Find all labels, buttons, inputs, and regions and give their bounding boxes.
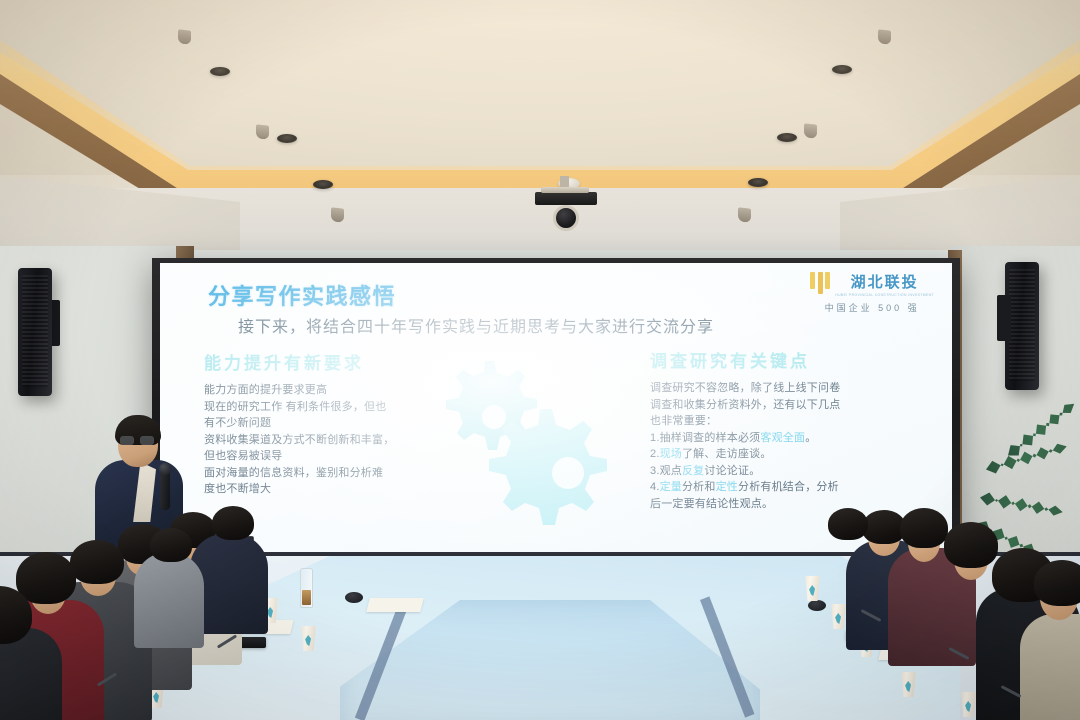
attendee-hair bbox=[70, 540, 124, 584]
slide-line: 现在的研究工作 有利条件很多，但也 bbox=[204, 399, 504, 416]
attendee-hair bbox=[828, 508, 868, 540]
notepad bbox=[366, 598, 423, 612]
meeting-room-photo: 湖北联投 HUBEI PROVINCIAL CONSTRUCTION INVES… bbox=[0, 0, 1080, 720]
logo-english: HUBEI PROVINCIAL CONSTRUCTION INVESTMENT bbox=[835, 293, 934, 297]
slide-line: 能力方面的提升要求更高 bbox=[204, 382, 504, 399]
attendee-hair bbox=[944, 522, 998, 568]
spotlight-icon bbox=[180, 18, 189, 44]
slide-line: 3.观点反复讨论论证。 bbox=[650, 463, 950, 480]
slide-line: 也非常重要： bbox=[650, 413, 950, 430]
downlight-icon bbox=[277, 134, 297, 143]
downlight-icon bbox=[210, 67, 230, 76]
column-body-right: 调查研究不容忽略，除了线上线下问卷 调查和收集分析资料外，还有以下几点 也非常重… bbox=[650, 380, 950, 512]
logo-mark-icon bbox=[810, 272, 830, 296]
slide-column-right: 调查研究有关键点 调查研究不容忽略，除了线上线下问卷 调查和收集分析资料外，还有… bbox=[650, 347, 950, 512]
spotlight-icon bbox=[333, 196, 342, 222]
downlight-icon bbox=[777, 133, 797, 142]
downlight-icon bbox=[748, 178, 768, 187]
slide-line: 资料收集渠道及方式不断创新和丰富， bbox=[204, 432, 504, 449]
wall-speaker-left bbox=[18, 268, 52, 396]
logo-tagline: 中国企业 500 强 bbox=[810, 301, 934, 314]
attendee-hair bbox=[1034, 560, 1080, 606]
camera-bar bbox=[535, 192, 597, 205]
handheld-microphone-icon bbox=[160, 470, 170, 510]
slide-line: 4.定量分析和定性分析有机结合，分析 bbox=[650, 479, 950, 496]
slide-title: 分享写作实践感悟 bbox=[208, 279, 396, 311]
slide-line: 1.抽样调查的样本必须客观全面。 bbox=[650, 430, 950, 447]
slide-line: 调查研究不容忽略，除了线上线下问卷 bbox=[650, 380, 950, 397]
attendee-hair bbox=[900, 508, 948, 548]
slide-column-left: 能力提升有新要求 能力方面的提升要求更高 现在的研究工作 有利条件很多，但也 有… bbox=[204, 349, 504, 498]
slide-line: 有不少新问题 bbox=[204, 415, 504, 432]
spotlight-icon bbox=[806, 112, 815, 138]
water-bottle bbox=[300, 568, 313, 608]
attendee-torso bbox=[1020, 614, 1080, 720]
attendee-hair bbox=[150, 528, 192, 562]
spotlight-icon bbox=[880, 18, 889, 44]
attendee-torso bbox=[134, 552, 204, 648]
slide-subtitle: 接下来，将结合四十年写作实践与近期思考与大家进行交流分享 bbox=[238, 313, 714, 337]
downlight-icon bbox=[313, 180, 333, 189]
column-heading-left: 能力提升有新要求 bbox=[204, 349, 504, 374]
column-body-left: 能力方面的提升要求更高 现在的研究工作 有利条件很多，但也 有不少新问题 资料收… bbox=[204, 382, 504, 498]
glasses-icon bbox=[120, 436, 156, 445]
downlight-icon bbox=[832, 65, 852, 74]
spotlight-icon bbox=[258, 113, 267, 139]
slide-line: 面对海量的信息资料，鉴别和分析难 bbox=[204, 465, 504, 482]
slide-line: 但也容易被误导 bbox=[204, 448, 504, 465]
attendee-hair bbox=[212, 506, 254, 540]
slide-line: 调查和收集分析资料外，还有以下几点 bbox=[650, 397, 950, 414]
microphone-puck bbox=[345, 592, 363, 603]
speaker-bracket-right bbox=[997, 295, 1011, 341]
slide-line: 度也不断增大 bbox=[204, 481, 504, 498]
column-heading-right: 调查研究有关键点 bbox=[650, 347, 950, 372]
logo-name: 湖北联投 bbox=[835, 271, 934, 292]
spotlight-icon bbox=[740, 196, 749, 222]
company-logo: 湖北联投 HUBEI PROVINCIAL CONSTRUCTION INVES… bbox=[810, 271, 934, 314]
slide-line: 2.现场了解、走访座谈。 bbox=[650, 446, 950, 463]
video-camera-icon bbox=[553, 205, 579, 231]
slide-line: 后一定要有结论性观点。 bbox=[650, 496, 950, 513]
